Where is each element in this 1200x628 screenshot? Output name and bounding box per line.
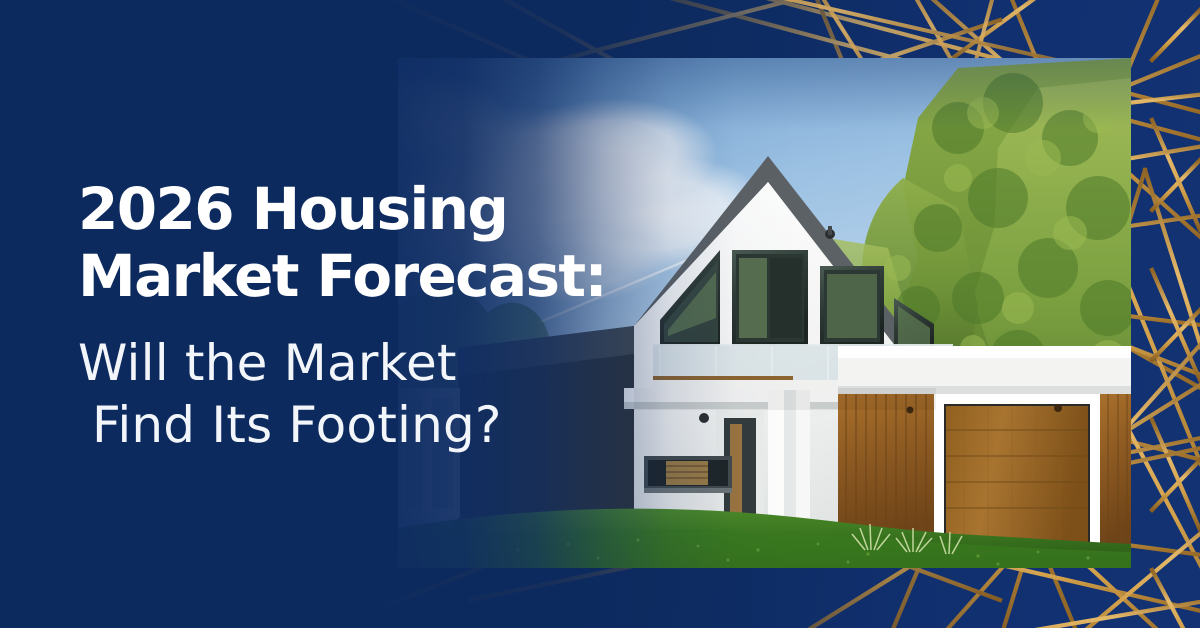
text-block: 2026 Housing Market Forecast: Will the M… <box>78 176 778 456</box>
page-title: 2026 Housing Market Forecast: <box>78 176 778 310</box>
headline-line-1: 2026 Housing <box>78 175 507 243</box>
headline-line-2: Market Forecast: <box>78 242 606 310</box>
page-subtitle: Will the Market Find Its Footing? <box>78 310 778 456</box>
subheading-line-2: Find Its Footing? <box>92 396 502 454</box>
banner-canvas: 2026 Housing Market Forecast: Will the M… <box>0 0 1200 628</box>
subheading-line-1: Will the Market <box>78 334 457 392</box>
